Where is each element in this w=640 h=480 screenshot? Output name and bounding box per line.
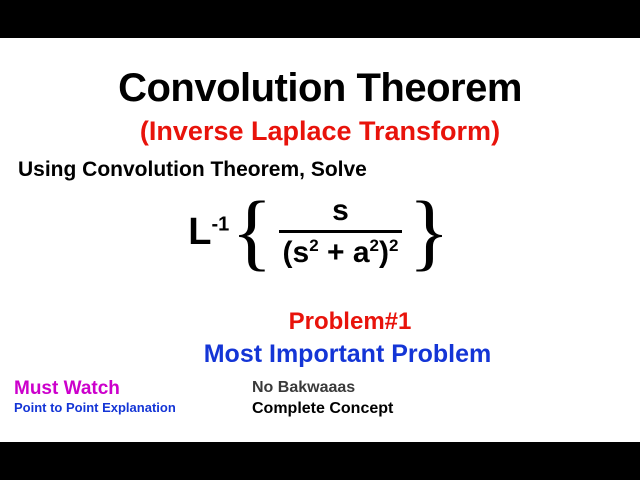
fraction: s (s2 + a2)2	[279, 194, 403, 270]
den-exp-2: 2	[370, 236, 379, 255]
slide-canvas: Convolution Theorem (Inverse Laplace Tra…	[0, 0, 640, 480]
fraction-denominator: (s2 + a2)2	[279, 233, 403, 270]
operator-letter: L	[188, 211, 211, 253]
fraction-numerator: s	[326, 194, 355, 230]
bottom-letterbox-bar	[0, 442, 640, 480]
page-title: Convolution Theorem	[0, 66, 640, 111]
brace-close: }	[408, 192, 449, 271]
den-outer-exp: 2	[389, 236, 398, 255]
operator-exponent: -1	[211, 213, 229, 235]
page-subtitle: (Inverse Laplace Transform)	[0, 116, 640, 147]
den-close: )	[379, 236, 389, 269]
den-exp-1: 2	[309, 236, 318, 255]
problem-number: Problem#1	[0, 308, 640, 336]
whiteboard-area: Convolution Theorem (Inverse Laplace Tra…	[0, 38, 640, 442]
instruction-text: Using Convolution Theorem, Solve	[18, 158, 367, 182]
importance-label: Most Important Problem	[0, 340, 640, 369]
formula-expression: L-1 { s (s2 + a2)2 }	[0, 190, 640, 269]
badge-no-bakwaas: No Bakwaaas	[252, 379, 355, 397]
inverse-laplace-operator: L-1	[188, 213, 229, 251]
den-base: (s	[283, 236, 310, 269]
badge-must-watch: Must Watch	[14, 378, 120, 400]
den-mid: + a	[319, 236, 370, 269]
top-letterbox-bar	[0, 0, 640, 38]
badge-complete-concept: Complete Concept	[252, 400, 393, 418]
brace-open: {	[231, 192, 272, 271]
badge-point-to-point: Point to Point Explanation	[14, 400, 176, 415]
